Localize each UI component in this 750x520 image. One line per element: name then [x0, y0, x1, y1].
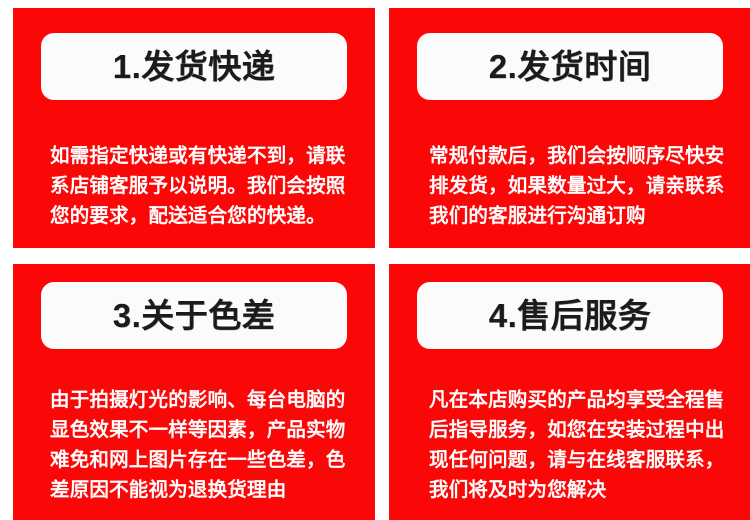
panel-body-text: 如需指定快递或有快递不到，请联系店铺客服予以说明。我们会按照您的要求，配送适合您… [50, 141, 355, 231]
panel-title-box: 3.关于色差 [41, 282, 347, 349]
panel-title: 2.发货时间 [489, 50, 652, 83]
notice-board: 1.发货快递 如需指定快递或有快递不到，请联系店铺客服予以说明。我们会按照您的要… [0, 0, 750, 504]
panel-title-box: 4.售后服务 [417, 282, 723, 349]
panel-body-text: 由于拍摄灯光的影响、每台电脑的显色效果不一样等因素，产品实物难免和网上图片存在一… [50, 385, 355, 505]
notice-panel-after-sales-service: 4.售后服务 凡在本店购买的产品均享受全程售后指导服务，如您在安装过程中出现任何… [389, 264, 750, 520]
panel-title-box: 1.发货快递 [41, 33, 347, 100]
panel-body-text: 常规付款后，我们会按顺序尽快安排发货，如果数量过大，请亲联系我们的客服进行沟通订… [429, 141, 731, 231]
panel-title: 1.发货快递 [113, 50, 276, 83]
panel-body-text: 凡在本店购买的产品均享受全程售后指导服务，如您在安装过程中出现任何问题，请与在线… [429, 385, 731, 505]
notice-panel-color-difference: 3.关于色差 由于拍摄灯光的影响、每台电脑的显色效果不一样等因素，产品实物难免和… [13, 264, 375, 520]
panel-title-box: 2.发货时间 [417, 33, 723, 100]
notice-panel-shipping-time: 2.发货时间 常规付款后，我们会按顺序尽快安排发货，如果数量过大，请亲联系我们的… [389, 8, 750, 248]
panel-title: 3.关于色差 [113, 299, 276, 332]
panel-title: 4.售后服务 [489, 299, 652, 332]
notice-panel-shipping-courier: 1.发货快递 如需指定快递或有快递不到，请联系店铺客服予以说明。我们会按照您的要… [13, 8, 375, 248]
